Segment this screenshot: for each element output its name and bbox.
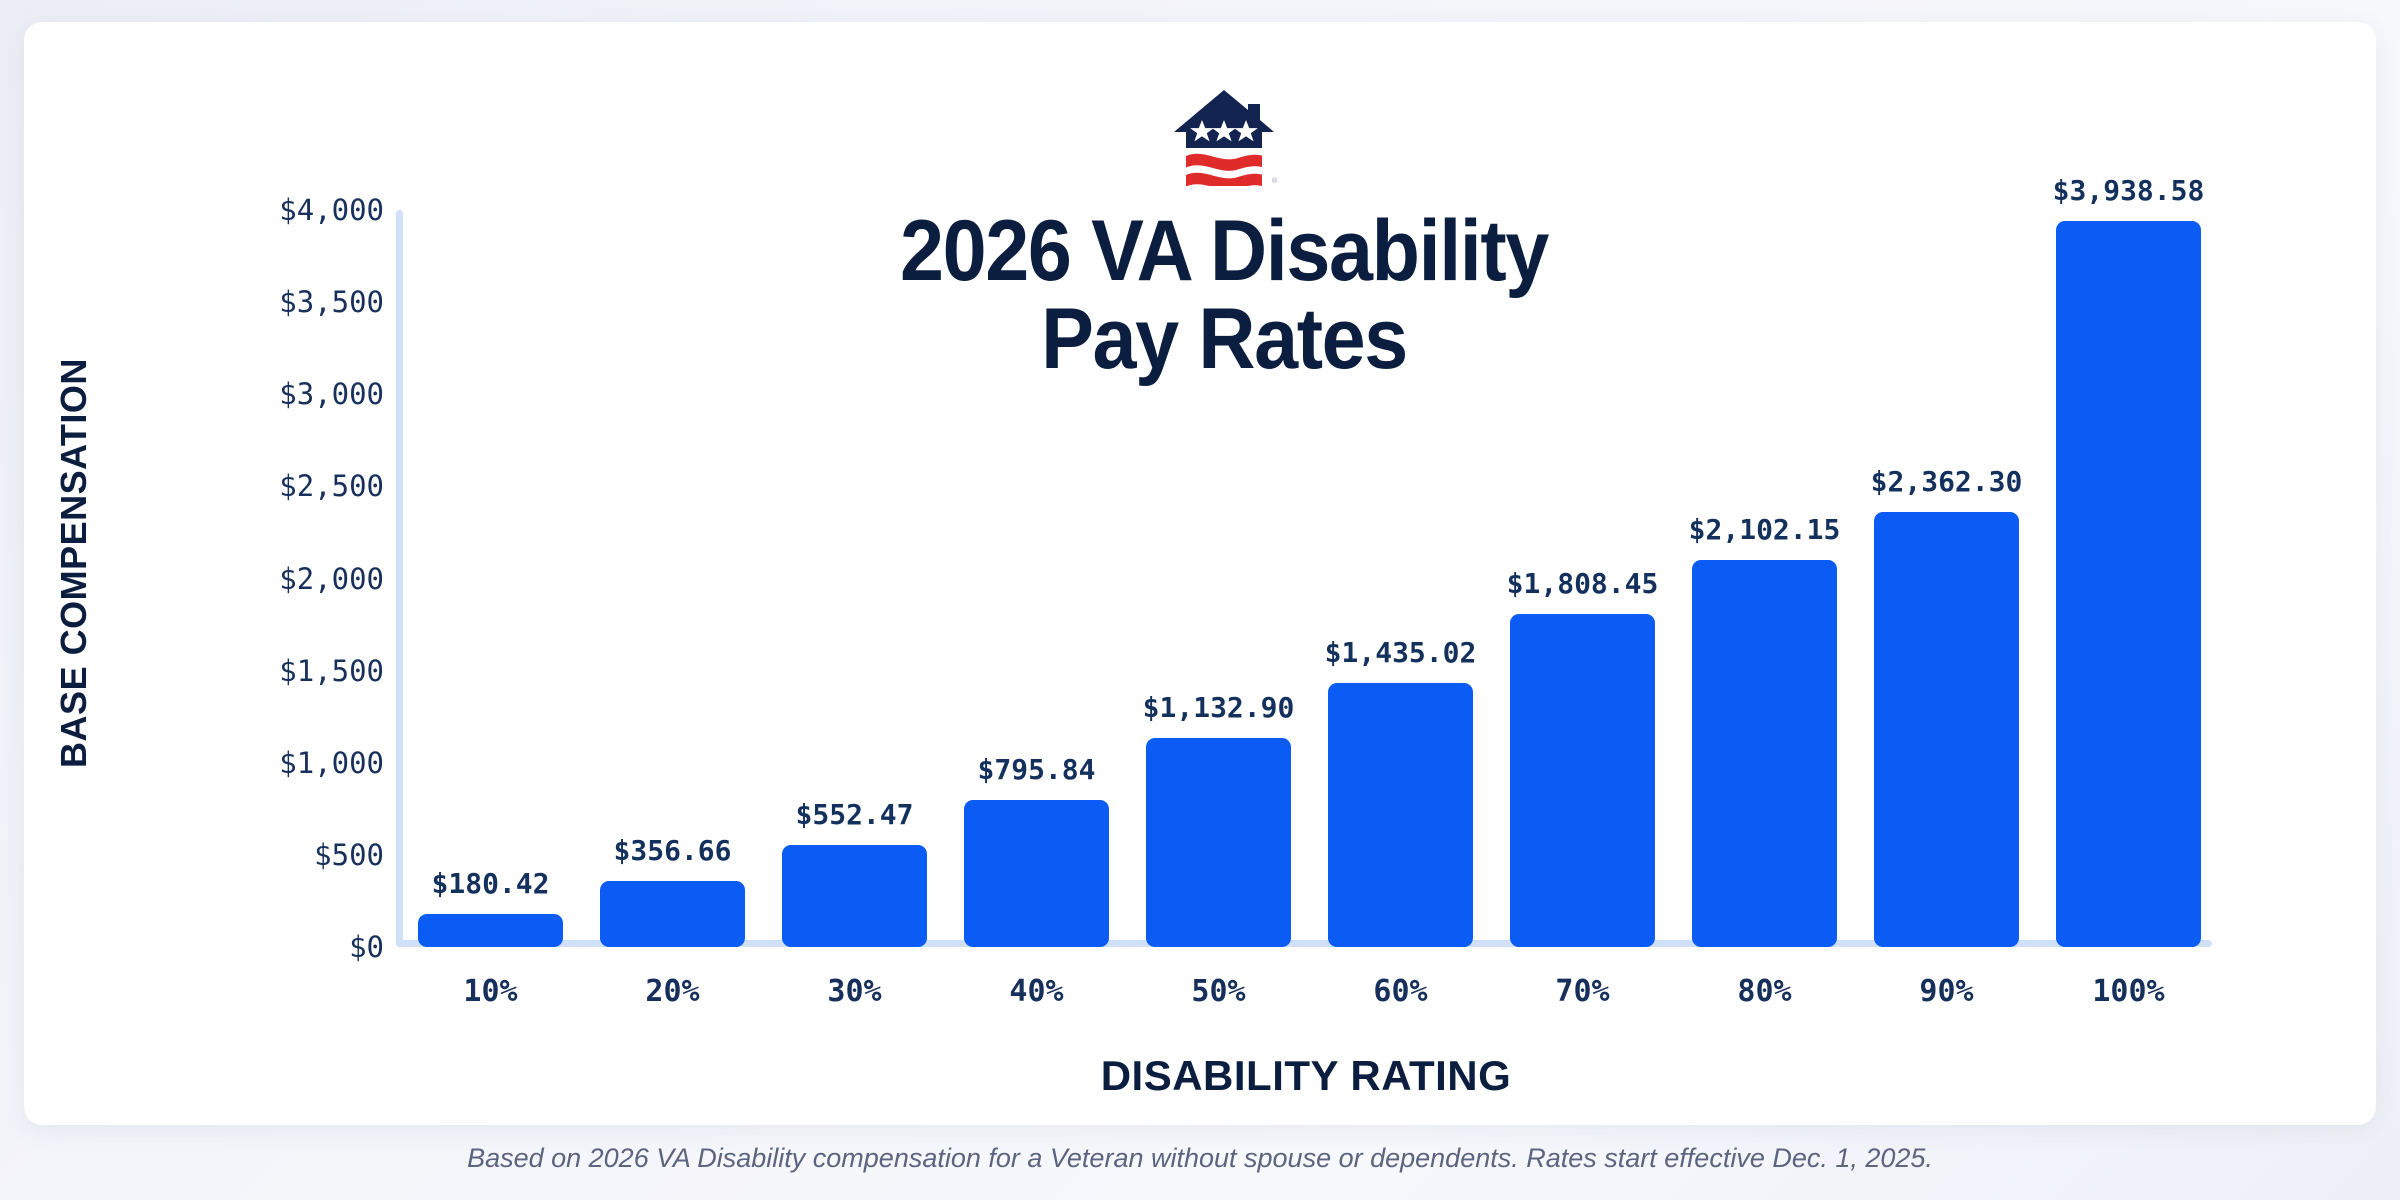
y-axis-tick-label: $500: [184, 838, 384, 872]
chart-card: ® 2026 VA Disability Pay Rates $0$500$1,…: [24, 22, 2376, 1125]
bar-value-label: $1,132.90: [1143, 691, 1295, 724]
bar-value-label: $2,102.15: [1689, 513, 1841, 546]
bar[interactable]: [964, 800, 1109, 947]
bar-value-label: $356.66: [613, 834, 731, 867]
x-axis-tick-label: 50%: [1139, 974, 1299, 1009]
bar[interactable]: [1328, 683, 1473, 947]
bar[interactable]: [1874, 512, 2019, 947]
x-axis-tick-label: 10%: [411, 974, 571, 1009]
x-axis-title: DISABILITY RATING: [400, 1052, 2212, 1100]
x-axis-tick-label: 70%: [1503, 974, 1663, 1009]
bar[interactable]: [1692, 560, 1837, 947]
y-axis-tick-label: $1,500: [184, 654, 384, 688]
flag-stripes-shape: [1186, 154, 1262, 186]
bar-group: $2,362.30: [1874, 210, 2019, 947]
y-axis-title: BASE COMPENSATION: [53, 303, 95, 823]
y-axis-tick-label: $0: [184, 930, 384, 964]
bar-group: $1,808.45: [1510, 210, 1655, 947]
bar-group: $3,938.58: [2056, 210, 2201, 947]
bar-value-label: $552.47: [795, 798, 913, 831]
bar-group: $795.84: [964, 210, 1109, 947]
bar-group: $2,102.15: [1692, 210, 1837, 947]
x-axis-tick-label: 20%: [593, 974, 753, 1009]
bar-value-label: $3,938.58: [2053, 174, 2205, 207]
bar[interactable]: [1146, 738, 1291, 947]
x-axis-tick-label: 80%: [1685, 974, 1845, 1009]
bar[interactable]: [1510, 614, 1655, 947]
x-axis-tick-label: 40%: [957, 974, 1117, 1009]
bar-group: $1,435.02: [1328, 210, 1473, 947]
bar[interactable]: [600, 881, 745, 947]
y-axis-tick-label: $2,500: [184, 469, 384, 503]
bar[interactable]: [782, 845, 927, 947]
y-axis-tick-labels: $0$500$1,000$1,500$2,000$2,500$3,000$3,5…: [174, 210, 384, 947]
bar-group: $1,132.90: [1146, 210, 1291, 947]
bar[interactable]: [418, 914, 563, 947]
bar-group: $356.66: [600, 210, 745, 947]
x-axis-tick-label: 30%: [775, 974, 935, 1009]
y-axis-tick-label: $3,500: [184, 285, 384, 319]
va-claims-insider-logo: ®: [1164, 88, 1284, 186]
bar-value-label: $180.42: [431, 867, 549, 900]
y-axis-tick-label: $1,000: [184, 746, 384, 780]
bar-value-label: $2,362.30: [1871, 465, 2023, 498]
bar-value-label: $1,435.02: [1325, 636, 1477, 669]
footnote: Based on 2026 VA Disability compensation…: [0, 1143, 2400, 1174]
registered-trademark-mark: ®: [1272, 177, 1278, 185]
x-axis-tick-label: 100%: [2049, 974, 2209, 1009]
y-axis-tick-label: $4,000: [184, 193, 384, 227]
x-axis-tick-label: 90%: [1867, 974, 2027, 1009]
bar[interactable]: [2056, 221, 2201, 947]
y-axis-tick-label: $2,000: [184, 562, 384, 596]
bar-group: $180.42: [418, 210, 563, 947]
bar-value-label: $1,808.45: [1507, 567, 1659, 600]
x-axis-tick-label: 60%: [1321, 974, 1481, 1009]
y-axis-tick-label: $3,000: [184, 377, 384, 411]
plot-area: $180.42$356.66$552.47$795.84$1,132.90$1,…: [400, 210, 2212, 947]
bar-group: $552.47: [782, 210, 927, 947]
bar-value-label: $795.84: [977, 753, 1095, 786]
house-roof-shape: [1174, 90, 1274, 148]
